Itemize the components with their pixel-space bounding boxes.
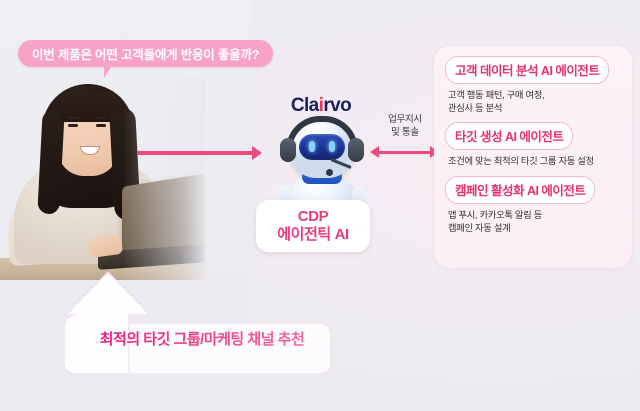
task-instruction-line1: 업무지시 [368, 114, 442, 127]
arrow-person-to-robot-head [252, 146, 262, 160]
agent-description-line2: 캠페인 자동 설계 [448, 222, 632, 235]
infographic-canvas: 이번 제품은 어떤 고객들에게 반응이 좋을까? Clairvo CDP 에이전… [0, 0, 640, 411]
arrow-person-to-robot [137, 151, 257, 155]
robot-headset-mic-tip [326, 169, 333, 176]
agent-description-line1: 앱 푸시, 카카오톡 알림 등 [448, 209, 632, 222]
cdp-agentic-ai-box: CDP 에이전틱 AI [256, 200, 370, 252]
agent-description-line2: 관심사 등 분석 [448, 102, 632, 115]
person-photo [0, 78, 205, 280]
cdp-label-line2: 에이전틱 AI [277, 226, 349, 244]
agent-card: 캠페인 활성화 AI 에이전트 앱 푸시, 카카오톡 알림 등 캠페인 자동 설… [434, 176, 632, 235]
robot-headset-cup-left [280, 138, 296, 162]
photo-edge-fade [0, 78, 205, 280]
agent-description: 고객 행동 패턴, 구매 여정, 관심사 등 분석 [448, 89, 632, 115]
agent-title-pill: 캠페인 활성화 AI 에이전트 [445, 176, 595, 204]
recommendation-arrow: 최적의 타깃 그룹/마케팅 채널 추천 [62, 268, 332, 374]
cdp-label-line1: CDP [298, 208, 328, 226]
agent-title-pill: 타깃 생성 AI 에이전트 [445, 122, 573, 150]
speech-bubble-tail [104, 64, 122, 78]
arrow-bidirectional-head-left [370, 146, 379, 158]
agent-description-line1: 고객 행동 패턴, 구매 여정, [448, 89, 632, 102]
agent-description-line1: 조건에 맞는 최적의 타깃 그룹 자동 설정 [448, 155, 632, 168]
agent-description: 조건에 맞는 최적의 타깃 그룹 자동 설정 [448, 155, 632, 168]
logo-prefix: Cla [291, 95, 319, 116]
recommendation-arrow-shape [62, 268, 332, 374]
agent-card: 고객 데이터 분석 AI 에이전트 고객 행동 패턴, 구매 여정, 관심사 등… [434, 56, 632, 115]
task-instruction-label: 업무지시 및 통솔 [368, 114, 442, 140]
logo-suffix: rvo [323, 95, 351, 116]
recommendation-arrow-text: 최적의 타깃 그룹/마케팅 채널 추천 [80, 328, 324, 349]
arrow-bidirectional-line [378, 151, 432, 154]
agents-panel: 고객 데이터 분석 AI 에이전트 고객 행동 패턴, 구매 여정, 관심사 등… [434, 46, 632, 268]
clairvo-logo: Clairvo [276, 96, 366, 115]
speech-bubble-text: 이번 제품은 어떤 고객들에게 반응이 좋을까? [32, 44, 259, 63]
agent-card: 타깃 생성 AI 에이전트 조건에 맞는 최적의 타깃 그룹 자동 설정 [434, 122, 632, 168]
robot-headset-cup-right [348, 138, 364, 162]
agent-description: 앱 푸시, 카카오톡 알림 등 캠페인 자동 설계 [448, 209, 632, 235]
agent-title-pill: 고객 데이터 분석 AI 에이전트 [445, 56, 609, 84]
task-instruction-line2: 및 통솔 [368, 127, 442, 140]
speech-bubble: 이번 제품은 어떤 고객들에게 반응이 좋을까? [18, 40, 273, 67]
